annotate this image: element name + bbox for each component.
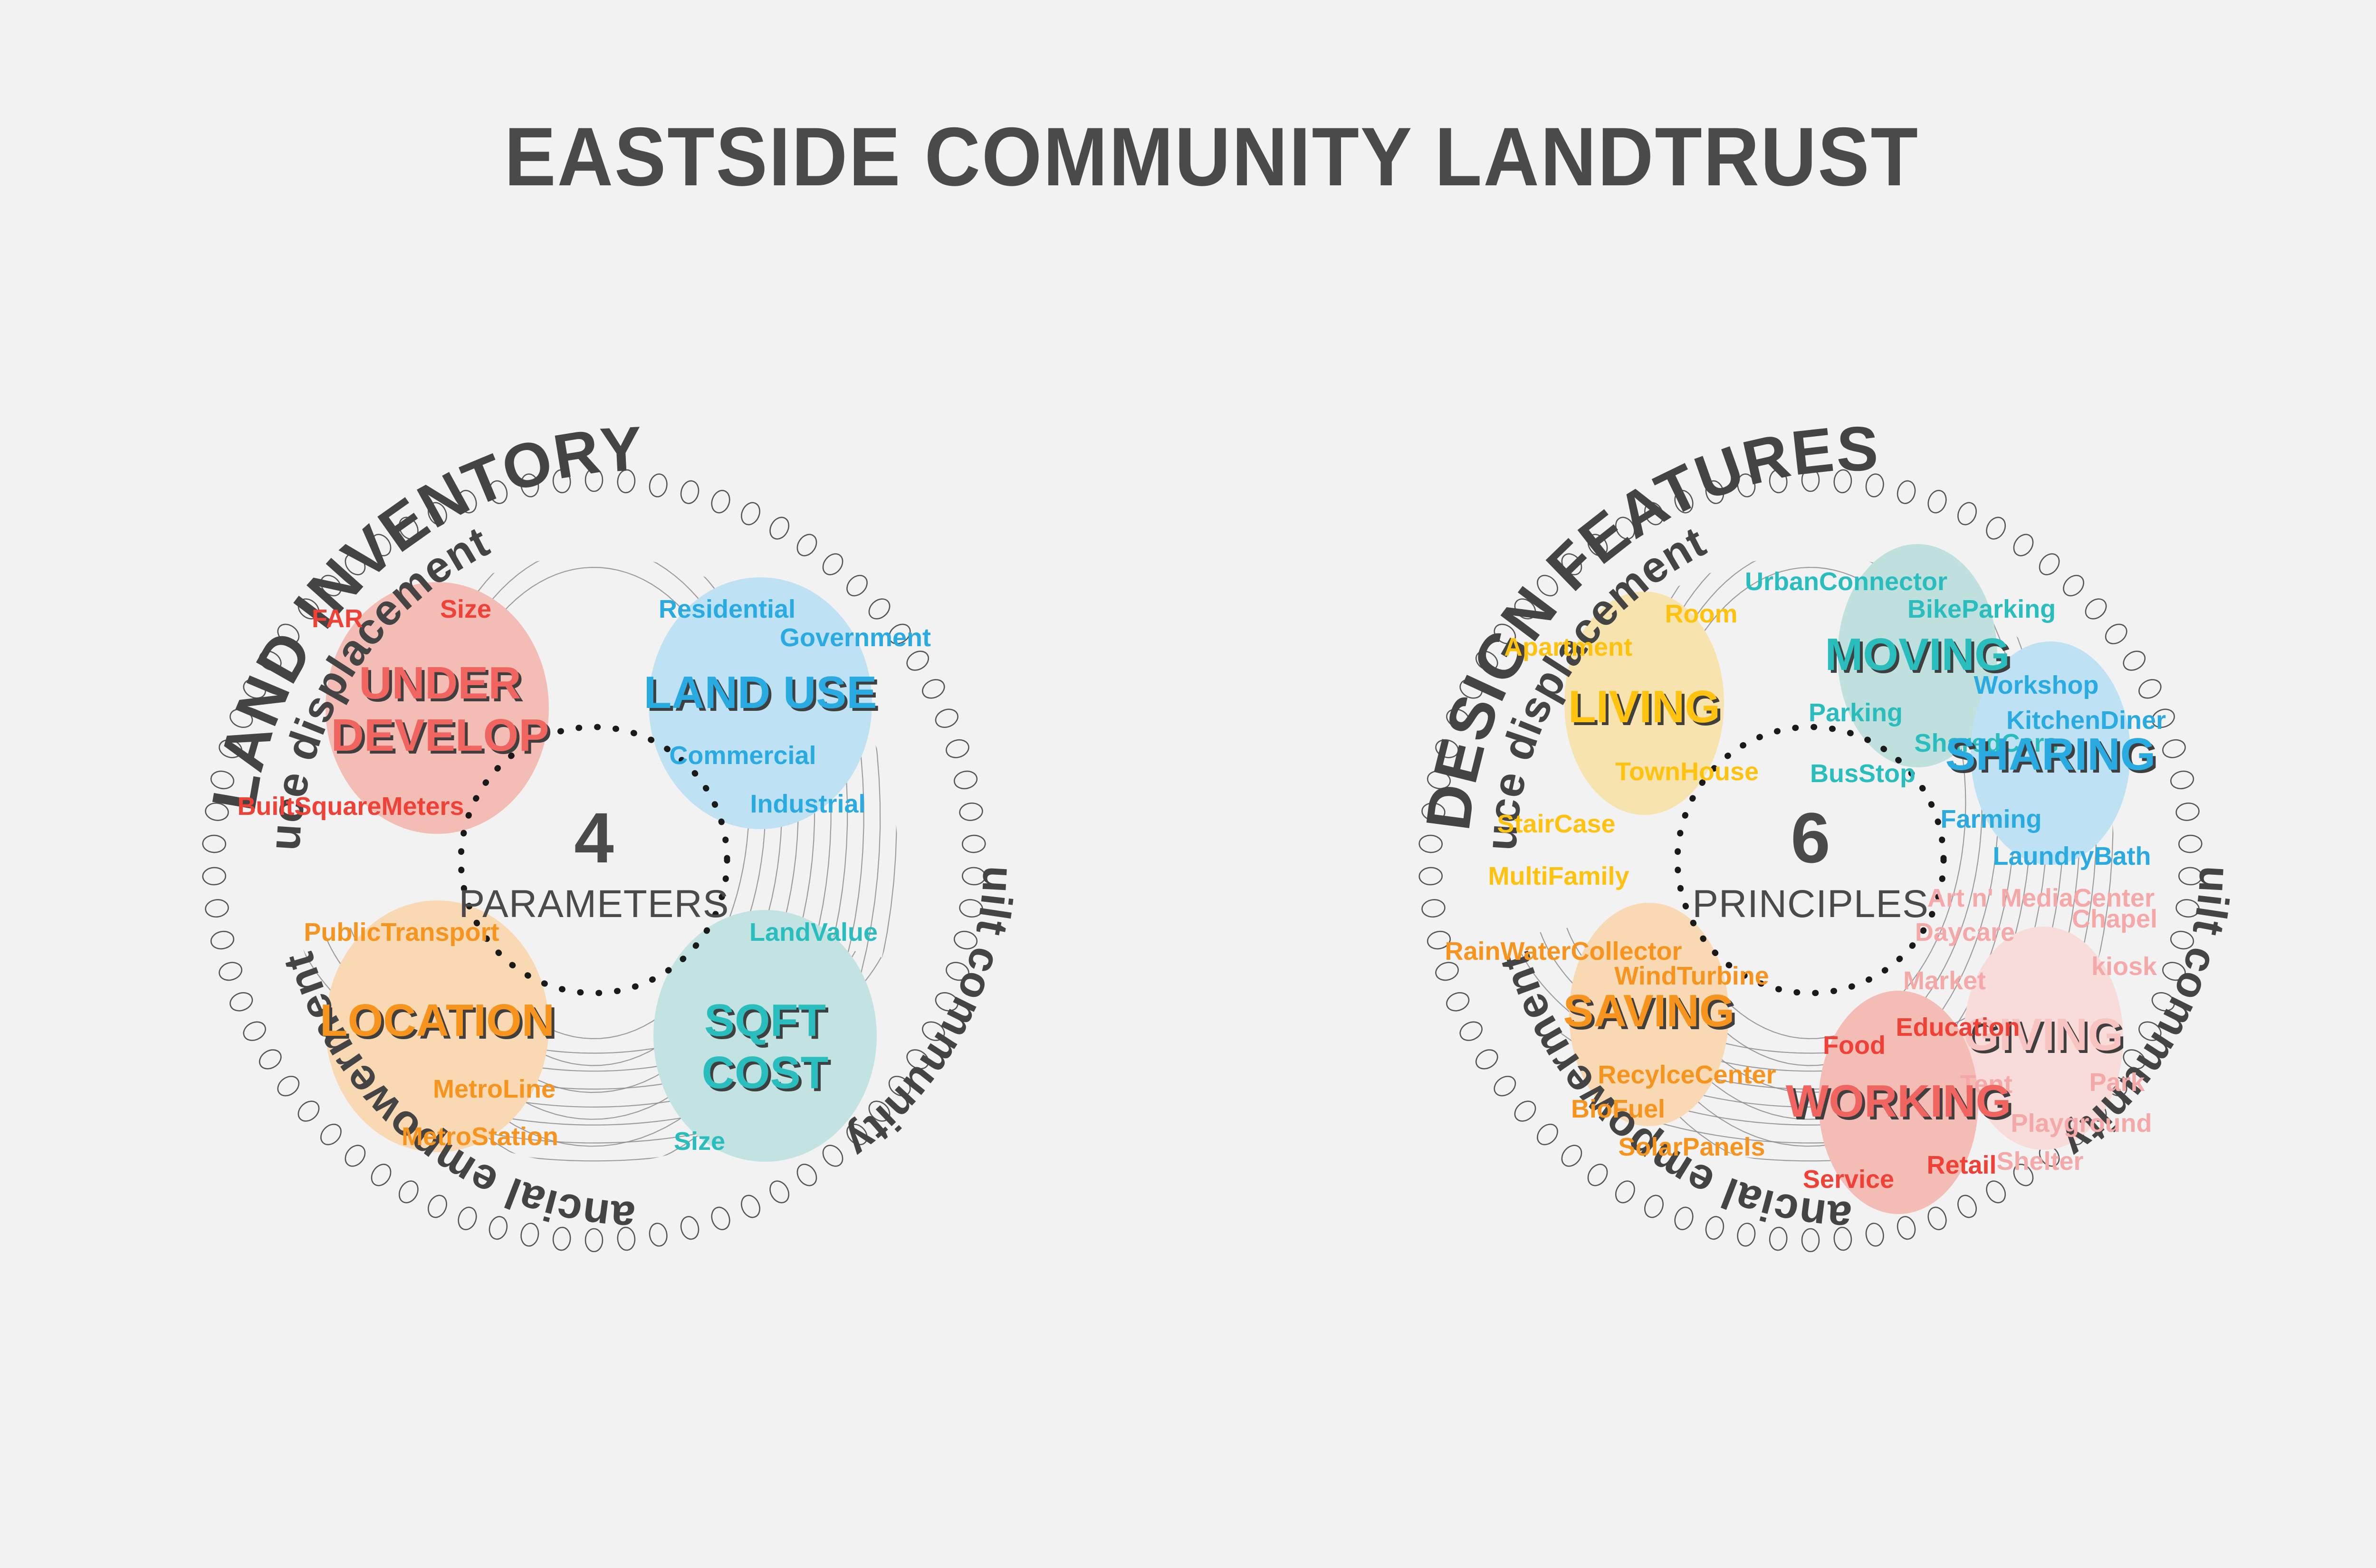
term-kiosk: kiosk bbox=[2091, 952, 2157, 981]
term-government: Government bbox=[780, 623, 931, 652]
wheel-design-features: 6 PRINCIPLES DESIGN FEATURES reduce disp… bbox=[1359, 323, 2290, 1368]
ring-bead bbox=[202, 835, 226, 853]
wheel-land-inventory: 4 PARAMETERS LAND INVENTORY reduce displ… bbox=[143, 323, 1045, 1368]
ring-bead bbox=[794, 1161, 821, 1189]
term-biofuel: BioFuel bbox=[1571, 1095, 1665, 1123]
ring-bead bbox=[1983, 514, 2009, 542]
term-bikeparking: BikeParking bbox=[1907, 595, 2056, 623]
ring-bead bbox=[217, 960, 244, 983]
ring-bead bbox=[962, 835, 986, 853]
term-food: Food bbox=[1823, 1031, 1886, 1060]
term-solarpanels: SolarPanels bbox=[1618, 1133, 1765, 1161]
cluster-title-cost: COST bbox=[702, 1047, 829, 1098]
cluster-title-working: WORKING bbox=[1786, 1076, 2012, 1127]
ring-bead bbox=[709, 1205, 733, 1232]
ring-bead bbox=[1511, 1097, 1540, 1125]
ring-bead bbox=[2035, 550, 2063, 579]
term-market: Market bbox=[1903, 966, 1986, 995]
term-shelter: Shelter bbox=[1996, 1147, 2083, 1176]
center-word: PARAMETERS bbox=[459, 882, 729, 926]
ring-bead bbox=[2136, 676, 2164, 702]
ring-bead bbox=[204, 899, 229, 918]
ring-bead bbox=[1926, 488, 1949, 515]
ring-bead bbox=[1704, 1214, 1726, 1241]
ring-bead bbox=[1954, 1193, 1980, 1221]
term-service: Service bbox=[1803, 1165, 1894, 1194]
term-laundrybath: LaundryBath bbox=[1993, 842, 2151, 870]
term-education: Education bbox=[1896, 1013, 2020, 1042]
term-daycare: Daycare bbox=[1915, 918, 2015, 947]
ring-bead bbox=[1473, 1046, 1501, 1073]
ring-bead bbox=[487, 1214, 509, 1241]
ring-bead bbox=[425, 1193, 450, 1221]
ring-bead bbox=[1419, 835, 1442, 853]
term-playground: Playground bbox=[2011, 1109, 2152, 1138]
ring-bead bbox=[1954, 500, 1980, 528]
ring-bead bbox=[648, 1222, 669, 1247]
ring-bead bbox=[1612, 1178, 1638, 1206]
ring-bead bbox=[738, 1193, 763, 1221]
term-industrial: Industrial bbox=[750, 790, 865, 818]
term-townhouse: TownHouse bbox=[1615, 757, 1759, 786]
ring-bead bbox=[1641, 1193, 1667, 1221]
ring-bead bbox=[766, 514, 793, 542]
ring-bead bbox=[1736, 1222, 1757, 1247]
ring-bead bbox=[274, 1072, 303, 1100]
ring-bead bbox=[2179, 835, 2202, 853]
infographic-canvas: EASTSIDE COMMUNITY LANDTRUST 4 PARAMETER… bbox=[0, 0, 2376, 1568]
ring-bead bbox=[1584, 1161, 1611, 1189]
cluster-title-sharing: SHARING bbox=[1945, 729, 2156, 780]
ring-bead bbox=[766, 1178, 793, 1206]
ring-bead bbox=[819, 1141, 846, 1170]
ring-bead bbox=[210, 929, 236, 951]
cluster-title-living: LIVING bbox=[1568, 681, 1720, 732]
center-word: PRINCIPLES bbox=[1692, 882, 1929, 926]
ring-bead bbox=[794, 531, 821, 559]
term-retail: Retail bbox=[1926, 1151, 1996, 1179]
ring-bead bbox=[2102, 621, 2130, 648]
ring-bead bbox=[1444, 990, 1472, 1014]
cluster-title-sqft: SQFT bbox=[704, 995, 826, 1046]
ring-bead bbox=[202, 867, 226, 885]
term-publictransport: PublicTransport bbox=[304, 918, 499, 947]
ring-bead bbox=[1558, 1141, 1585, 1170]
cluster-title-location: LOCATION bbox=[320, 995, 555, 1046]
ring-bead bbox=[2060, 572, 2088, 600]
ring-bead bbox=[2161, 737, 2187, 760]
term-recylcecenter: RecylceCenter bbox=[1598, 1061, 1776, 1089]
ring-bead bbox=[843, 572, 871, 600]
term-windturbine: WindTurbine bbox=[1614, 962, 1769, 990]
cluster-title-develop: DEVELOP bbox=[331, 710, 549, 761]
ring-bead bbox=[819, 550, 846, 579]
ring-bead bbox=[648, 473, 669, 498]
page-title: EASTSIDE COMMUNITY LANDTRUST bbox=[85, 109, 2339, 205]
ring-bead bbox=[2169, 769, 2195, 791]
ring-bead bbox=[395, 1178, 422, 1206]
term-commercial: Commercial bbox=[669, 741, 816, 770]
term-metrostation: MetroStation bbox=[402, 1122, 558, 1151]
term-kitchendiner: KitchenDiner bbox=[2006, 706, 2166, 735]
term-builtsquaremeters: BuiltSquareMeters bbox=[237, 792, 464, 821]
ring-bead bbox=[456, 1205, 479, 1232]
ring-bead bbox=[865, 595, 894, 623]
ring-bead bbox=[1895, 479, 1917, 506]
term-far: FAR bbox=[312, 604, 363, 633]
term-room: Room bbox=[1665, 600, 1738, 628]
term-apartment: Apartment bbox=[1504, 633, 1632, 661]
term-busstop: BusStop bbox=[1810, 759, 1916, 788]
ring-bead bbox=[1491, 1072, 1519, 1100]
ring-bead bbox=[958, 802, 983, 822]
ring-bead bbox=[2120, 648, 2148, 674]
ring-bead bbox=[953, 769, 979, 791]
ring-bead bbox=[1419, 867, 1442, 885]
term-landvalue: LandValue bbox=[749, 918, 878, 947]
ring-bead bbox=[368, 1161, 395, 1189]
ring-bead bbox=[1421, 899, 1446, 918]
ring-bead bbox=[944, 737, 971, 760]
ring-bead bbox=[295, 1097, 323, 1125]
term-workshop: Workshop bbox=[1974, 671, 2098, 699]
ring-bead bbox=[679, 1214, 701, 1241]
term-farming: Farming bbox=[1940, 805, 2041, 833]
term-parking: Parking bbox=[1809, 698, 1903, 727]
ring-bead bbox=[1533, 1120, 1562, 1149]
term-size: Size bbox=[674, 1127, 725, 1156]
term-chapel: Chapel bbox=[2072, 905, 2157, 933]
cluster-title-land-use: LAND USE bbox=[644, 667, 877, 718]
cluster-title-under: UNDER bbox=[359, 658, 521, 708]
ring-bead bbox=[1983, 1178, 2009, 1206]
ring-bead bbox=[240, 1018, 268, 1044]
ring-bead bbox=[738, 500, 763, 528]
term-urbanconnector: UrbanConnector bbox=[1745, 567, 1947, 596]
term-size: Size bbox=[440, 595, 491, 623]
ring-bead bbox=[1864, 1222, 1885, 1247]
term-rainwatercollector: RainWaterCollector bbox=[1445, 937, 1682, 966]
ring-bead bbox=[933, 706, 960, 730]
ring-bead bbox=[1457, 1018, 1485, 1044]
ring-bead bbox=[709, 488, 733, 515]
ring-bead bbox=[2175, 802, 2200, 822]
ring-bead bbox=[519, 1222, 540, 1247]
term-multifamily: MultiFamily bbox=[1488, 862, 1629, 890]
ring-bead bbox=[317, 1120, 345, 1149]
ring-bead bbox=[2010, 531, 2037, 559]
term-staircase: StairCase bbox=[1497, 810, 1615, 838]
term-residential: Residential bbox=[659, 595, 795, 623]
ring-bead bbox=[1926, 1205, 1949, 1232]
center-number: 4 bbox=[574, 798, 613, 878]
center-number: 6 bbox=[1791, 798, 1830, 878]
term-metroline: MetroLine bbox=[433, 1075, 556, 1103]
cluster-title-saving: SAVING bbox=[1563, 985, 1735, 1036]
ring-bead bbox=[1672, 1205, 1696, 1232]
ring-bead bbox=[1895, 1214, 1917, 1241]
ring-bead bbox=[679, 479, 701, 506]
ring-bead bbox=[341, 1141, 369, 1170]
ring-bead bbox=[2082, 595, 2110, 623]
term-park: Park bbox=[2089, 1068, 2145, 1097]
ring-bead bbox=[228, 990, 255, 1014]
ring-bead bbox=[920, 676, 948, 702]
ring-bead bbox=[256, 1046, 285, 1073]
